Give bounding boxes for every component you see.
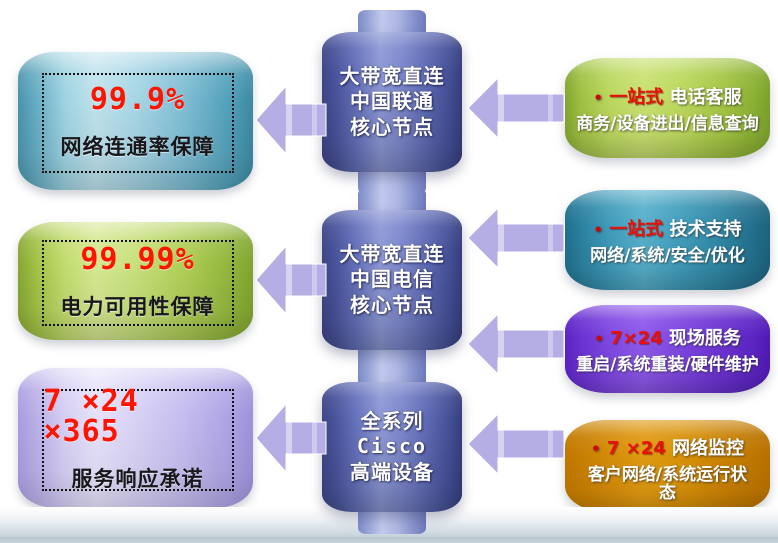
right-card-network-monitoring-text: • 7 ×24 网络监控 客户网络/系统运行状态: [565, 420, 770, 512]
line-3: 核心节点: [350, 115, 434, 141]
line-3: 高端设备: [350, 460, 434, 486]
detail: 重启/系统重装/硬件维护: [576, 357, 758, 375]
arrow-left-3: [256, 398, 326, 478]
line-2: Cisco: [357, 434, 427, 460]
center-node-telecom[interactable]: 大带宽直连 中国电信 核心节点: [322, 210, 462, 350]
headline-highlight: 7×24: [610, 328, 663, 349]
detail: 商务/设备进出/信息查询: [576, 116, 758, 134]
bullet-icon: •: [593, 89, 603, 107]
arrow-right-1: [468, 72, 564, 144]
bullet-icon: •: [591, 440, 601, 458]
metric-value: 7 ×24 ×365: [44, 387, 232, 447]
right-card-tech-support-text: • 一站式 技术支持 网络/系统/安全/优化: [565, 190, 770, 290]
left-card-response-commitment[interactable]: 7 ×24 ×365 服务响应承诺: [18, 368, 253, 508]
arrow-right-4: [468, 408, 564, 480]
headline-rest: 电话客服: [670, 87, 742, 108]
arrow-left-2: [256, 240, 326, 320]
dotted-frame: 7 ×24 ×365 服务响应承诺: [42, 389, 234, 491]
line-2: 中国联通: [350, 89, 434, 115]
metric-label: 服务响应承诺: [72, 463, 204, 493]
line-1: 大带宽直连: [340, 64, 445, 90]
arrow-right-2: [468, 202, 564, 274]
left-card-power-availability[interactable]: 99.99% 电力可用性保障: [18, 222, 253, 340]
metric-value: 99.9%: [90, 85, 185, 115]
arrow-right-3: [468, 308, 564, 380]
metric-label: 电力可用性保障: [61, 291, 215, 321]
headline-highlight: 7 ×24: [607, 438, 666, 459]
right-card-phone-service-text: • 一站式 电话客服 商务/设备进出/信息查询: [565, 58, 770, 158]
center-node-cisco[interactable]: 全系列 Cisco 高端设备: [322, 382, 462, 512]
center-node-telecom-text: 大带宽直连 中国电信 核心节点: [322, 210, 462, 350]
dotted-frame: 99.9% 网络连通率保障: [42, 73, 234, 174]
headline: • 一站式 技术支持: [593, 215, 741, 241]
detail: 客户网络/系统运行状态: [588, 467, 748, 503]
headline-highlight: 一站式: [609, 87, 663, 108]
metric-value: 99.99%: [80, 245, 194, 275]
center-node-unicom[interactable]: 大带宽直连 中国联通 核心节点: [322, 32, 462, 172]
diagram-canvas: 大带宽直连 中国联通 核心节点 大带宽直连 中国电信 核心节点 全系列 Cisc…: [0, 0, 778, 543]
line-1: 全系列: [361, 409, 424, 435]
dotted-frame: 99.99% 电力可用性保障: [42, 240, 234, 327]
arrow-left-1: [256, 80, 326, 160]
right-card-onsite-service-text: • 7×24 现场服务 重启/系统重装/硬件维护: [565, 305, 770, 393]
bullet-icon: •: [593, 221, 603, 239]
headline: • 一站式 电话客服: [593, 83, 741, 109]
right-card-network-monitoring[interactable]: • 7 ×24 网络监控 客户网络/系统运行状态: [565, 420, 770, 512]
left-card-network-availability[interactable]: 99.9% 网络连通率保障: [18, 52, 253, 190]
metric-label: 网络连通率保障: [61, 131, 215, 161]
right-card-onsite-service[interactable]: • 7×24 现场服务 重启/系统重装/硬件维护: [565, 305, 770, 393]
line-3: 核心节点: [350, 293, 434, 319]
bullet-icon: •: [594, 330, 604, 348]
headline-rest: 技术支持: [670, 219, 742, 240]
headline: • 7×24 现场服务: [594, 324, 741, 350]
headline-rest: 网络监控: [672, 438, 744, 459]
center-node-unicom-text: 大带宽直连 中国联通 核心节点: [322, 32, 462, 172]
floor-edge: [0, 537, 778, 543]
headline: • 7 ×24 网络监控: [591, 434, 744, 460]
line-1: 大带宽直连: [340, 242, 445, 268]
headline-highlight: 一站式: [609, 219, 663, 240]
center-node-cisco-text: 全系列 Cisco 高端设备: [322, 382, 462, 512]
headline-rest: 现场服务: [669, 328, 741, 349]
detail: 网络/系统/安全/优化: [590, 248, 745, 266]
right-card-tech-support[interactable]: • 一站式 技术支持 网络/系统/安全/优化: [565, 190, 770, 290]
line-2: 中国电信: [350, 267, 434, 293]
right-card-phone-service[interactable]: • 一站式 电话客服 商务/设备进出/信息查询: [565, 58, 770, 158]
